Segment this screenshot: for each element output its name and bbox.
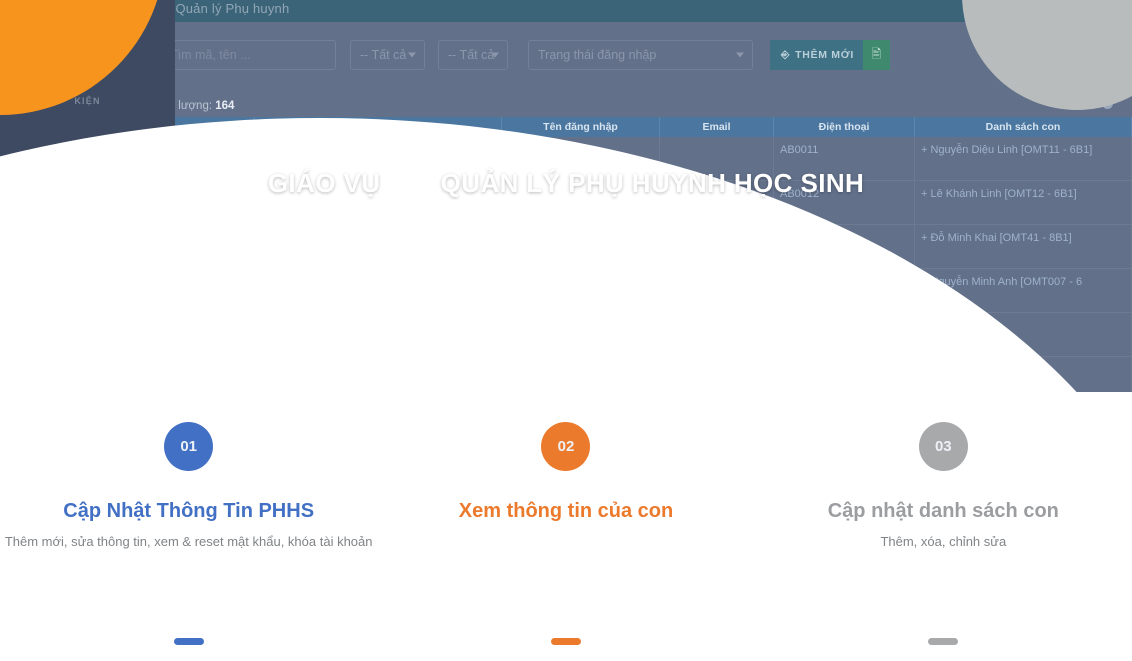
feature-card-underline	[928, 638, 958, 645]
export-button[interactable]: 🖹	[863, 40, 890, 70]
search-placeholder: Tìm mã, tên ...	[170, 48, 251, 62]
filter-dropdown-2[interactable]: -- Tất cả	[438, 40, 508, 70]
app-toolbar: Tìm mã, tên ... -- Tất cả -- Tất cả Trạn…	[160, 40, 905, 72]
app-window-title: Quản lý Phụ huynh	[175, 1, 289, 16]
feature-card-01: 01Cập Nhật Thông Tin PHHSThêm mới, sửa t…	[0, 392, 377, 661]
feature-card-body: 03Cập nhật danh sách conThêm, xóa, chỉnh…	[755, 392, 1132, 552]
feature-cards: 01Cập Nhật Thông Tin PHHSThêm mới, sửa t…	[0, 392, 1132, 661]
filter-1-value: -- Tất cả	[360, 48, 406, 62]
login-status-dropdown[interactable]: Trạng thái đăng nhập	[528, 40, 753, 70]
sidebar-item-events-label: KIỆN	[74, 96, 100, 106]
feature-card-body: 02Xem thông tin của con	[377, 392, 754, 525]
user-plus-icon: ⎆	[781, 49, 790, 62]
login-status-value: Trạng thái đăng nhập	[538, 48, 656, 62]
page-root: ☺Quản lý Phụ huynh Tìm mã, tên ... -- Tấ…	[0, 0, 1132, 661]
search-input[interactable]: Tìm mã, tên ...	[160, 40, 336, 70]
feature-card-number-badge: 01	[164, 422, 213, 471]
chevron-down-icon	[491, 53, 499, 58]
table-header-phone: Điện thoại	[774, 117, 915, 137]
add-new-button[interactable]: ⎆ THÊM MỚI	[770, 40, 865, 70]
filter-2-value: -- Tất cả	[448, 48, 494, 62]
page-title-left: GIÁO VỤ	[268, 168, 381, 198]
table-header-email: Email	[660, 117, 774, 137]
feature-card-title: Cập nhật danh sách con	[755, 498, 1132, 525]
add-new-label: THÊM MỚI	[795, 49, 854, 61]
filter-dropdown-1[interactable]: -- Tất cả	[350, 40, 425, 70]
title-separator	[410, 171, 411, 197]
chevron-down-icon	[408, 53, 416, 58]
feature-card-title: Cập Nhật Thông Tin PHHS	[0, 498, 377, 525]
feature-card-underline	[174, 638, 204, 645]
feature-card-body: 01Cập Nhật Thông Tin PHHSThêm mới, sửa t…	[0, 392, 377, 552]
feature-card-description: Thêm, xóa, chỉnh sửa	[755, 532, 1132, 552]
feature-card-underline	[551, 638, 581, 645]
feature-card-02: 02Xem thông tin của con	[377, 392, 754, 661]
feature-card-number-badge: 02	[541, 422, 590, 471]
feature-card-description: Thêm mới, sửa thông tin, xem & reset mật…	[0, 532, 377, 552]
feature-card-number-badge: 03	[919, 422, 968, 471]
page-title: GIÁO VỤ QUẢN LÝ PHỤ HUYNH HỌC SINH	[0, 168, 1132, 199]
table-header-children: Danh sách con	[915, 117, 1132, 137]
app-window-title-row: ☺Quản lý Phụ huynh	[160, 1, 289, 16]
page-title-right: QUẢN LÝ PHỤ HUYNH HỌC SINH	[441, 168, 865, 198]
record-count-value: 164	[215, 100, 234, 112]
file-export-icon: 🖹	[872, 45, 882, 66]
chevron-down-icon	[736, 53, 744, 58]
hero-screenshot-banner: ☺Quản lý Phụ huynh Tìm mã, tên ... -- Tấ…	[0, 0, 1132, 392]
feature-card-title: Xem thông tin của con	[377, 498, 754, 525]
feature-card-03: 03Cập nhật danh sách conThêm, xóa, chỉnh…	[755, 392, 1132, 661]
table-cell-children: + Đỗ Minh Khai [OMT41 - 8B1]	[915, 225, 1132, 268]
